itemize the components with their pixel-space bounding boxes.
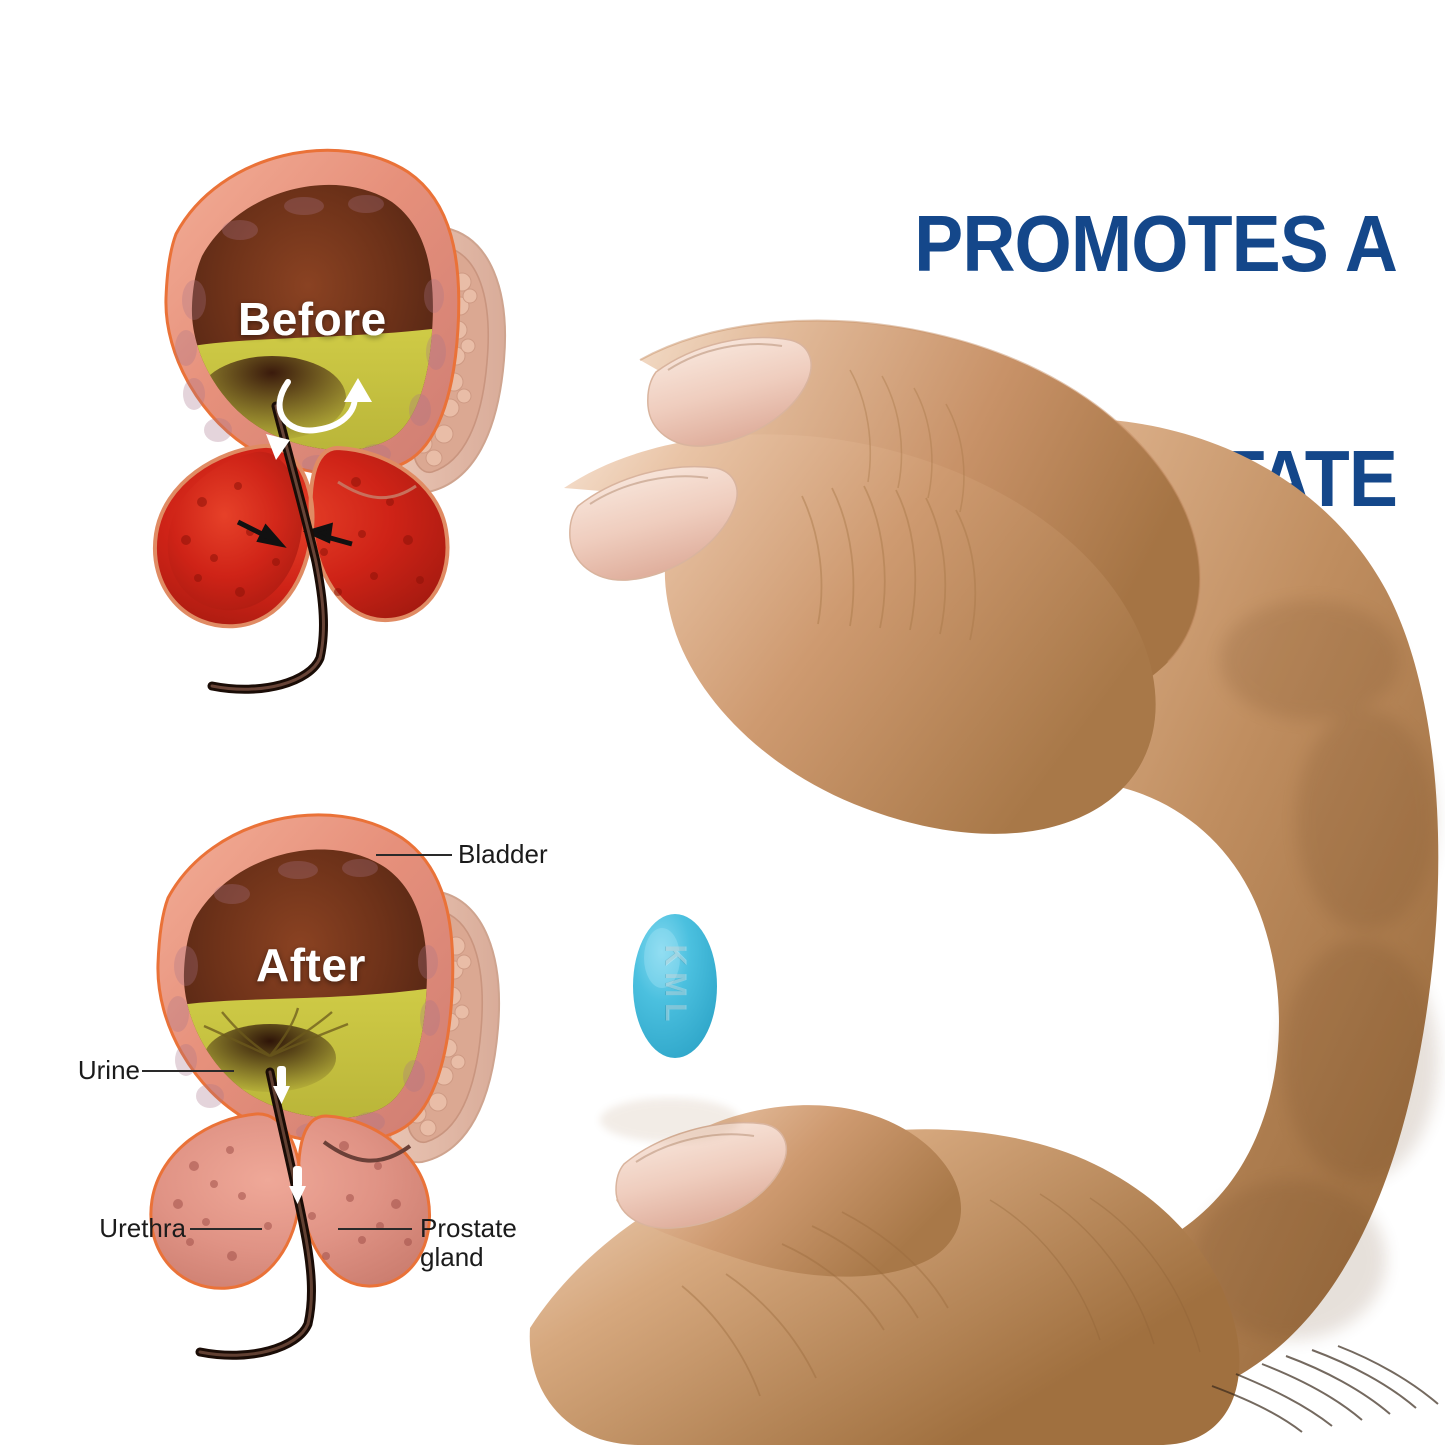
headline-line-1: PROMOTES A <box>569 205 1397 283</box>
prostate-gland-leader-line <box>338 1228 412 1230</box>
label-prostate-gland: Prostate gland <box>420 1214 517 1272</box>
urethra-leader-line <box>190 1228 262 1230</box>
bladder <box>166 150 459 475</box>
label-urine: Urine <box>62 1056 140 1085</box>
label-urethra: Urethra <box>58 1214 186 1243</box>
enlarged-prostate <box>155 446 448 626</box>
before-prostate-diagram: Before <box>90 110 530 680</box>
bladder-leader-line <box>376 854 452 856</box>
bladder <box>158 815 453 1143</box>
promotional-graphic: PROMOTES A HEALTHY PROSTATE <box>0 0 1445 1445</box>
hand-illustration <box>520 300 1445 1445</box>
urine-leader-line <box>142 1070 234 1072</box>
healthy-prostate <box>151 1114 430 1288</box>
after-prostate-diagram: After Bladder Urine Urethra Prostate gla… <box>80 780 530 1340</box>
before-anatomy-illustration <box>90 110 530 680</box>
pill-shape <box>630 912 720 1060</box>
pill: KML <box>630 912 720 1060</box>
hand-holding-pill <box>520 300 1445 1445</box>
